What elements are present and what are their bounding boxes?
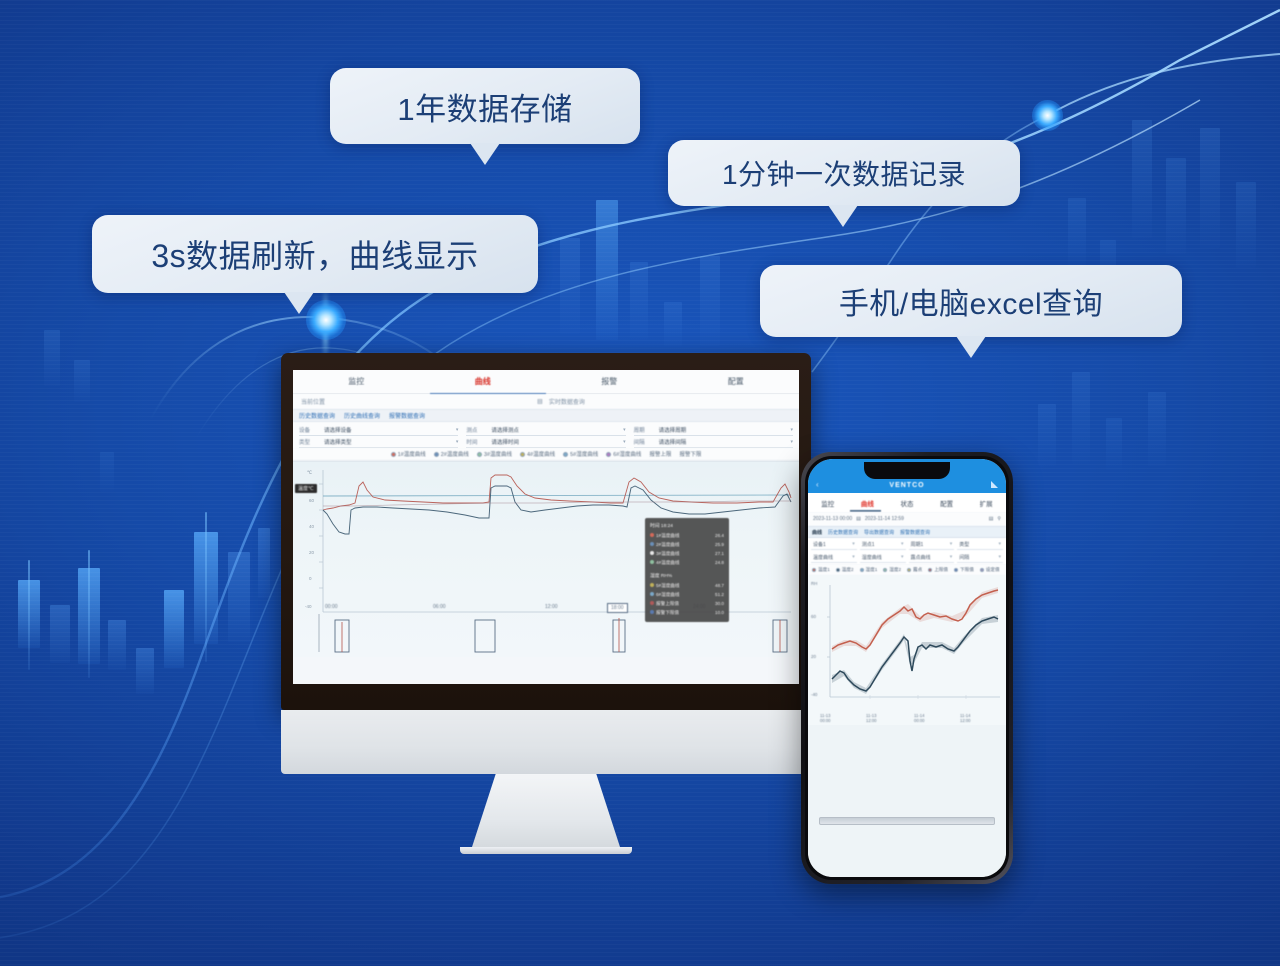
- legend-item-5[interactable]: 6#湿度曲线: [606, 450, 641, 458]
- monitor-stand-neck: [472, 774, 620, 847]
- phone-screen[interactable]: ‹ VENTCO 监控 曲线 状态 配置 扩展 2023-11-13 00:00…: [808, 459, 1006, 877]
- chevron-down-icon[interactable]: ▾: [950, 554, 953, 560]
- phone-tab-3[interactable]: 配置: [927, 498, 967, 508]
- callout-data-record-interval: 1分钟一次数据记录: [668, 140, 1020, 206]
- monitor-subbar: 当前位置 ▤ 实时数据查询: [293, 394, 799, 409]
- monitor-chart-tooltip: 时间 18:24 1#温度曲线 26.4 2#温度曲线 25.9 3#温度曲线 …: [645, 518, 729, 622]
- monitor-field-time[interactable]: 时间 请选择时间 ▾: [466, 437, 625, 448]
- phone-select-period[interactable]: 周期1▾: [909, 539, 955, 550]
- tooltip-item: 3#温度曲线 27.1: [650, 549, 724, 558]
- tooltip-title: 时间 18:24: [650, 522, 724, 529]
- phone-chip-0[interactable]: 曲线: [812, 529, 822, 536]
- monitor-chin: [281, 710, 811, 774]
- chevron-down-icon[interactable]: ▾: [456, 439, 459, 445]
- phone-select-point[interactable]: 测点1▾: [860, 539, 906, 550]
- search-icon[interactable]: ⚲: [997, 516, 1001, 522]
- field-value: 请选择类型: [324, 438, 453, 446]
- tooltip-item: 1#温度曲线 26.4: [650, 531, 724, 540]
- callout-tail-icon: [956, 336, 986, 358]
- monitor-trend-chart[interactable]: ℃ 60 40 20 0 -40: [293, 461, 799, 657]
- monitor-chart-legend[interactable]: 1#温度曲线 2#温度曲线 3#温度曲线 4#温度曲线 5#湿度曲线 6#湿度曲…: [293, 448, 799, 461]
- legend-item-2[interactable]: 3#温度曲线: [477, 450, 512, 458]
- svg-text:℃: ℃: [307, 470, 313, 475]
- tooltip-item: 4#温度曲线 24.8: [650, 558, 724, 567]
- monitor-form-row[interactable]: 设备 请选择设备 ▾ 测点 请选择测点 ▾ 周期 请选择周期 ▾: [299, 424, 793, 436]
- phone-select-temp-curve[interactable]: 温度曲线▾: [811, 552, 857, 563]
- monitor-link-1[interactable]: 历史曲线查询: [344, 411, 380, 420]
- phone-x-tick-3: 11-14 12:00: [960, 713, 970, 724]
- phone-legend-item-1[interactable]: 温度2: [836, 567, 854, 573]
- chevron-down-icon[interactable]: ▾: [998, 541, 1001, 547]
- monitor-calendar-icon: ▤: [537, 398, 543, 405]
- calendar-icon[interactable]: ▤: [856, 516, 861, 522]
- phone-date-start[interactable]: 2023-11-13 00:00: [813, 516, 852, 522]
- chevron-down-icon[interactable]: ▾: [623, 427, 626, 433]
- phone-select-interval[interactable]: 间隔▾: [957, 552, 1003, 563]
- phone-trend-chart[interactable]: RH 60 20 -40 11-13 00:00 11-13 12:00 11-…: [808, 575, 1006, 725]
- chevron-down-icon[interactable]: ▾: [950, 541, 953, 547]
- callout-excel-query: 手机/电脑excel查询: [760, 265, 1182, 337]
- monitor-field-interval[interactable]: 间隔 请选择间隔 ▾: [634, 437, 793, 448]
- tooltip-item: 2#温度曲线 25.9: [650, 540, 724, 549]
- phone-tab-0[interactable]: 监控: [808, 498, 848, 508]
- phone-legend-item-0[interactable]: 温度1: [812, 567, 830, 573]
- phone-chip-3[interactable]: 报警数据查询: [900, 529, 930, 536]
- phone-filter-chips[interactable]: 曲线 历史数据查询 导出数据查询 报警数据查询: [808, 526, 1006, 538]
- monitor-field-type[interactable]: 类型 请选择类型 ▾: [299, 437, 458, 448]
- field-value: 请选择周期: [659, 426, 788, 434]
- phone-app-title: VENTCO: [889, 482, 924, 489]
- chevron-down-icon[interactable]: ▾: [901, 554, 904, 560]
- field-label: 类型: [299, 438, 321, 446]
- phone-select-row[interactable]: 设备1▾ 测点1▾ 周期1▾ 类型▾: [808, 538, 1006, 551]
- phone-y-tick-3: -40: [811, 692, 817, 697]
- phone-legend-item-7[interactable]: 设定值: [980, 567, 1000, 573]
- field-label: 周期: [634, 426, 656, 434]
- monitor-tab-3[interactable]: 配置: [673, 376, 800, 387]
- monitor-link-bar[interactable]: 历史数据查询 历史曲线查询 报警数据查询: [293, 409, 799, 422]
- legend-item-4[interactable]: 5#湿度曲线: [563, 450, 598, 458]
- callout-tail-icon: [284, 292, 314, 314]
- chevron-down-icon[interactable]: ▾: [901, 541, 904, 547]
- calendar-icon[interactable]: ▤: [989, 516, 994, 522]
- callout-data-refresh: 3s数据刷新，曲线显示: [92, 215, 538, 293]
- svg-text:20: 20: [309, 550, 315, 555]
- phone-select-type[interactable]: 类型▾: [957, 539, 1003, 550]
- monitor-field-device[interactable]: 设备 请选择设备 ▾: [299, 425, 458, 436]
- tooltip-footer-item: 6#湿度曲线 51.2: [650, 590, 724, 599]
- legend-item-3[interactable]: 4#温度曲线: [520, 450, 555, 458]
- field-label: 间隔: [634, 438, 656, 446]
- phone-x-tick-1: 11-13 12:00: [866, 713, 876, 724]
- chevron-down-icon[interactable]: ▾: [852, 554, 855, 560]
- signal-icon: [991, 481, 998, 488]
- monitor-tab-2[interactable]: 报警: [546, 376, 673, 387]
- field-label: 时间: [466, 438, 488, 446]
- chevron-down-icon[interactable]: ▾: [623, 439, 626, 445]
- callout-label: 1分钟一次数据记录: [722, 153, 966, 193]
- phone-x-tick-2: 11-14 00:00: [914, 713, 924, 724]
- desktop-monitor: 监控 曲线 报警 配置 当前位置 ▤ 实时数据查询 历史数据查询 历史曲线查询 …: [281, 353, 811, 854]
- monitor-nav-tabs[interactable]: 监控 曲线 报警 配置: [293, 370, 799, 394]
- chevron-down-icon[interactable]: ▾: [456, 427, 459, 433]
- callout-label: 手机/电脑excel查询: [839, 279, 1103, 323]
- svg-text:40: 40: [309, 524, 315, 529]
- phone-legend-item-2[interactable]: 湿度1: [860, 567, 878, 573]
- monitor-x-tick-0: 00:00: [325, 604, 338, 610]
- phone-date-range-row[interactable]: 2023-11-13 00:00 ▤ 2023-11-14 12:59 ▤ ⚲: [808, 512, 1006, 526]
- callout-label: 1年数据存储: [397, 84, 572, 129]
- phone-legend-item-3[interactable]: 湿度2: [883, 567, 901, 573]
- phone-chip-1[interactable]: 历史数据查询: [828, 529, 858, 536]
- phone-tab-2[interactable]: 状态: [887, 498, 927, 508]
- phone-notch: [864, 462, 950, 479]
- monitor-tab-0[interactable]: 监控: [293, 376, 420, 387]
- monitor-field-period[interactable]: 周期 请选择周期 ▾: [634, 425, 793, 436]
- monitor-x-tick-1: 06:00: [433, 604, 446, 610]
- tooltip-footer-title: 湿度 RH%: [650, 572, 724, 579]
- smartphone: ‹ VENTCO 监控 曲线 状态 配置 扩展 2023-11-13 00:00…: [801, 452, 1013, 884]
- field-value: 请选择测点: [491, 426, 620, 434]
- monitor-x-tick-2: 12:00: [545, 604, 558, 610]
- phone-legend-item-5[interactable]: 上限值: [928, 567, 948, 573]
- phone-select-device[interactable]: 设备1▾: [811, 539, 857, 550]
- monitor-query-form[interactable]: 设备 请选择设备 ▾ 测点 请选择测点 ▾ 周期 请选择周期 ▾: [293, 422, 799, 448]
- phone-inner-bezel: ‹ VENTCO 监控 曲线 状态 配置 扩展 2023-11-13 00:00…: [805, 456, 1009, 880]
- phone-select-humid-curve[interactable]: 湿度曲线▾: [860, 552, 906, 563]
- phone-frame: ‹ VENTCO 监控 曲线 状态 配置 扩展 2023-11-13 00:00…: [801, 452, 1013, 884]
- phone-tab-bar[interactable]: 监控 曲线 状态 配置 扩展: [808, 493, 1006, 512]
- field-label: 测点: [466, 426, 488, 434]
- phone-select-dew-curve[interactable]: 露点曲线▾: [909, 552, 955, 563]
- phone-chart-svg: [808, 575, 1006, 725]
- chevron-down-icon[interactable]: ▾: [790, 427, 793, 433]
- chevron-down-icon[interactable]: ▾: [790, 439, 793, 445]
- monitor-tab-1[interactable]: 曲线: [420, 376, 547, 387]
- callout-data-storage: 1年数据存储: [330, 68, 640, 144]
- tooltip-footer-item: 报警下限值 10.0: [650, 608, 724, 617]
- phone-chip-2[interactable]: 导出数据查询: [864, 529, 894, 536]
- monitor-link-0[interactable]: 历史数据查询: [299, 411, 335, 420]
- legend-item-6[interactable]: 报警上限: [649, 450, 671, 458]
- back-chevron-icon[interactable]: ‹: [816, 480, 819, 489]
- monitor-x-tick-selected[interactable]: 18:00: [607, 603, 628, 613]
- phone-select-row[interactable]: 温度曲线▾ 湿度曲线▾ 露点曲线▾ 间隔▾: [808, 551, 1006, 564]
- tooltip-footer-item: 报警上限值 30.0: [650, 599, 724, 608]
- phone-y-tick-1: 60: [811, 614, 816, 619]
- phone-legend-item-6[interactable]: 下限值: [954, 567, 974, 573]
- field-value: 请选择间隔: [659, 438, 788, 446]
- svg-text:0: 0: [309, 576, 312, 581]
- phone-tab-4[interactable]: 扩展: [966, 498, 1006, 508]
- svg-text:60: 60: [309, 498, 315, 503]
- callout-tail-icon: [828, 205, 858, 227]
- svg-text:-40: -40: [305, 604, 312, 609]
- field-label: 设备: [299, 426, 321, 434]
- monitor-stand-base: [460, 847, 632, 854]
- monitor-y-axis-badge: 温度℃: [295, 484, 317, 493]
- field-value: 请选择设备: [324, 426, 453, 434]
- phone-tab-1[interactable]: 曲线: [848, 498, 888, 508]
- monitor-link-2[interactable]: 报警数据查询: [389, 411, 425, 420]
- phone-y-tick-0: RH: [811, 581, 817, 586]
- legend-item-0[interactable]: 1#温度曲线: [391, 450, 426, 458]
- legend-item-1[interactable]: 2#温度曲线: [434, 450, 469, 458]
- horizontal-scrollbar[interactable]: [819, 817, 995, 825]
- phone-chart-legend[interactable]: 温度1 温度2 湿度1 湿度2 露点 上限值 下限值 设定值: [808, 564, 1006, 575]
- callout-tail-icon: [470, 143, 500, 165]
- glow-node-topright: [1032, 100, 1063, 131]
- monitor-subbar-right: 实时数据查询: [549, 397, 585, 406]
- monitor-screen[interactable]: 监控 曲线 报警 配置 当前位置 ▤ 实时数据查询 历史数据查询 历史曲线查询 …: [293, 370, 799, 684]
- monitor-form-row[interactable]: 类型 请选择类型 ▾ 时间 请选择时间 ▾ 间隔 请选择间隔 ▾: [299, 436, 793, 448]
- chevron-down-icon[interactable]: ▾: [852, 541, 855, 547]
- phone-x-tick-0: 11-13 00:00: [820, 713, 830, 724]
- tooltip-footer-item: 5#湿度曲线 48.7: [650, 581, 724, 590]
- phone-y-tick-2: 20: [811, 654, 816, 659]
- monitor-breadcrumb: 当前位置: [301, 397, 325, 406]
- monitor-bezel: 监控 曲线 报警 配置 当前位置 ▤ 实时数据查询 历史数据查询 历史曲线查询 …: [281, 353, 811, 710]
- field-value: 请选择时间: [491, 438, 620, 446]
- chevron-down-icon[interactable]: ▾: [998, 554, 1001, 560]
- legend-item-7[interactable]: 报警下限: [679, 450, 701, 458]
- phone-legend-item-4[interactable]: 露点: [907, 567, 922, 573]
- monitor-field-point[interactable]: 测点 请选择测点 ▾: [466, 425, 625, 436]
- phone-date-end[interactable]: 2023-11-14 12:59: [865, 516, 904, 522]
- callout-label: 3s数据刷新，曲线显示: [151, 231, 478, 277]
